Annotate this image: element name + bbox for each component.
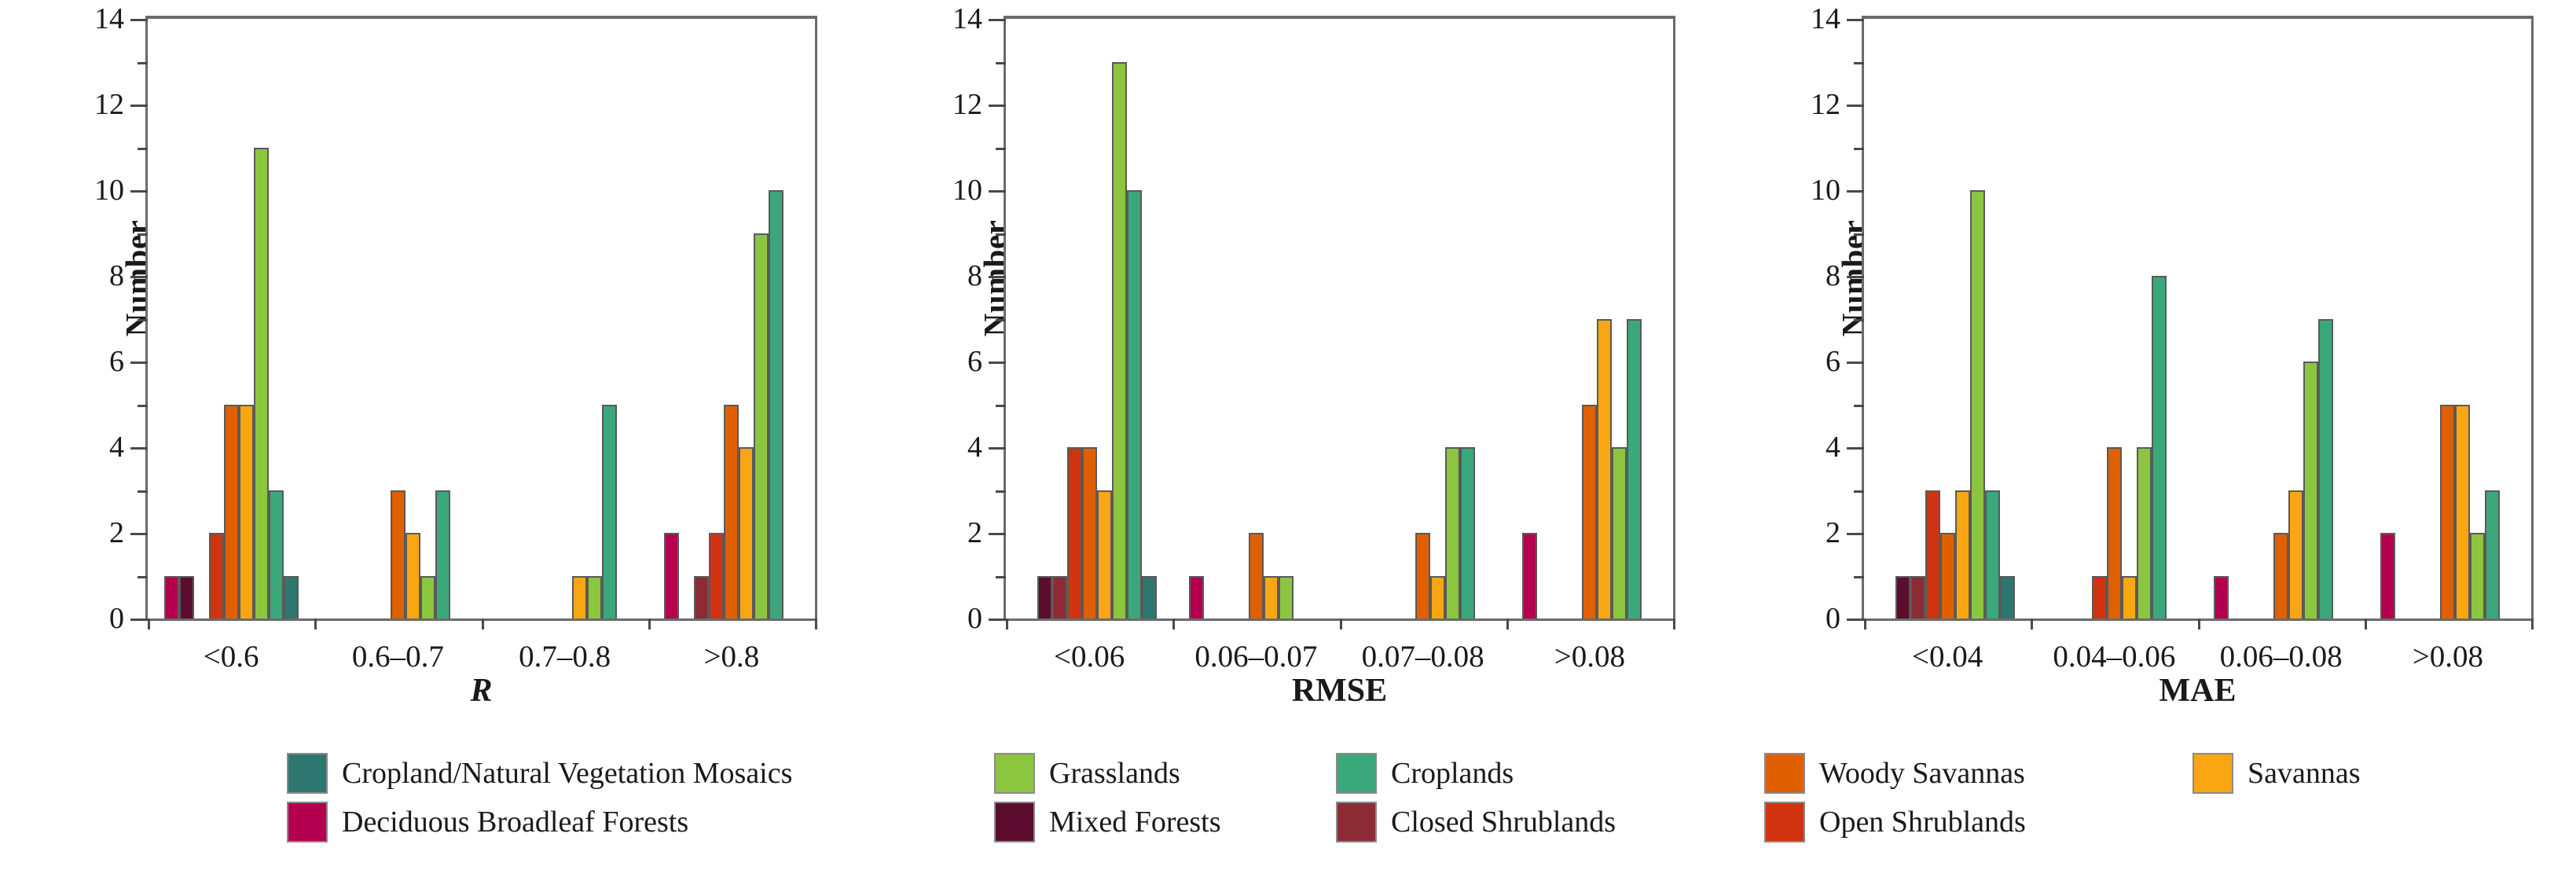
x-tick <box>815 619 817 630</box>
bar <box>435 490 450 619</box>
y-tick-minor <box>138 490 148 493</box>
bar <box>269 490 284 619</box>
y-tick-minor <box>138 576 148 578</box>
y-tick-label: 2 <box>1826 518 1840 548</box>
bar <box>1460 447 1475 619</box>
y-tick-major <box>1847 276 1864 278</box>
bar <box>1445 447 1460 619</box>
y-tick-major <box>130 190 148 193</box>
y-tick-major <box>989 190 1006 193</box>
legend: Cropland/Natural Vegetation MosaicsGrass… <box>0 751 2576 884</box>
figure-root: Number 02468101214<0.60.6–0.70.7–0.8>0.8… <box>0 0 2576 892</box>
y-tick-label: 6 <box>967 347 982 376</box>
x-group-label: <0.06 <box>1054 639 1125 674</box>
bar <box>2107 447 2122 619</box>
y-tick-label: 2 <box>109 518 124 548</box>
bar <box>1612 447 1627 619</box>
x-group-label: <0.6 <box>204 639 259 674</box>
panel-r: Number 02468101214<0.60.6–0.70.7–0.8>0.8… <box>0 0 858 739</box>
x-group-label: 0.04–0.06 <box>2053 639 2175 674</box>
x-tick <box>2198 619 2200 630</box>
x-tick <box>314 619 317 630</box>
x-tick <box>1673 619 1675 630</box>
bar <box>2288 490 2303 619</box>
bar <box>1925 490 1940 619</box>
x-tick <box>148 619 150 630</box>
bar <box>405 533 420 619</box>
x-group-label: 0.06–0.08 <box>2220 639 2343 674</box>
y-tick-major <box>989 19 1006 21</box>
y-tick-label: 12 <box>94 90 124 119</box>
y-tick-major <box>130 276 148 278</box>
bar <box>254 148 269 619</box>
bar <box>694 576 709 619</box>
legend-item[interactable]: Open Shrublands <box>1764 799 2026 845</box>
bar <box>1112 62 1127 619</box>
legend-item[interactable]: Deciduous Broadleaf Forests <box>287 799 688 845</box>
y-tick-minor <box>1854 233 1864 236</box>
y-tick-minor <box>1854 148 1864 150</box>
bar <box>2273 533 2288 619</box>
bar <box>284 576 299 619</box>
bar <box>1037 576 1052 619</box>
y-tick-major <box>989 362 1006 364</box>
bar <box>2440 405 2455 619</box>
legend-label: Deciduous Broadleaf Forests <box>342 807 688 837</box>
legend-label: Mixed Forests <box>1049 807 1221 837</box>
bar <box>724 405 739 619</box>
bar <box>1522 533 1537 619</box>
y-tick-minor <box>996 233 1006 236</box>
y-tick-label: 4 <box>109 432 124 462</box>
y-tick-label: 12 <box>952 90 982 119</box>
bar <box>224 405 239 619</box>
bar <box>1895 576 1910 619</box>
legend-swatch-icon <box>994 802 1035 842</box>
bar <box>1415 533 1430 619</box>
x-tick <box>1506 619 1509 630</box>
panel-rmse: Number 02468101214<0.060.06–0.070.07–0.0… <box>858 0 1716 739</box>
legend-label: Cropland/Natural Vegetation Mosaics <box>342 758 792 788</box>
x-tick <box>1340 619 1342 630</box>
plot-inner-rmse: 02468101214<0.060.06–0.070.07–0.08>0.08 <box>1006 19 1673 619</box>
y-tick-label: 0 <box>967 604 982 633</box>
bar <box>602 405 617 619</box>
panel-row: Number 02468101214<0.60.6–0.70.7–0.8>0.8… <box>0 0 2576 739</box>
y-tick-label: 14 <box>94 4 124 34</box>
bar <box>2000 576 2015 619</box>
x-axis-title-rmse: RMSE <box>1004 672 1675 710</box>
legend-item[interactable]: Mixed Forests <box>994 799 1221 845</box>
bar <box>2470 533 2485 619</box>
legend-swatch-icon <box>1336 802 1377 842</box>
y-tick-minor <box>996 576 1006 578</box>
x-group-label: >0.8 <box>704 639 760 674</box>
x-tick <box>648 619 651 630</box>
bar <box>709 533 724 619</box>
legend-swatch-icon <box>287 802 328 842</box>
legend-row-1: Cropland/Natural Vegetation MosaicsGrass… <box>0 751 2576 796</box>
y-tick-label: 8 <box>109 261 124 291</box>
y-tick-major <box>1847 190 1864 193</box>
x-axis-title-mae: MAE <box>1862 672 2534 710</box>
y-tick-major <box>130 447 148 450</box>
y-tick-major <box>130 362 148 364</box>
y-tick-minor <box>996 319 1006 321</box>
bar <box>1189 576 1204 619</box>
x-group-label: 0.6–0.7 <box>352 639 444 674</box>
bar <box>1985 490 2000 619</box>
y-tick-label: 8 <box>1826 261 1840 291</box>
y-tick-major <box>130 533 148 535</box>
bar <box>2380 533 2395 619</box>
legend-item[interactable]: Croplands <box>1336 751 1514 796</box>
bar <box>1597 319 1612 619</box>
y-tick-label: 0 <box>1826 604 1840 633</box>
y-tick-label: 6 <box>1826 347 1840 376</box>
bar <box>1264 576 1279 619</box>
y-tick-major <box>1847 619 1864 621</box>
y-tick-major <box>130 105 148 107</box>
bar <box>1940 533 1955 619</box>
legend-label: Grasslands <box>1049 758 1180 788</box>
y-tick-minor <box>996 490 1006 493</box>
y-tick-major <box>989 447 1006 450</box>
y-tick-major <box>130 619 148 621</box>
bar <box>239 405 254 619</box>
x-tick <box>2531 619 2534 630</box>
bar <box>1067 447 1082 619</box>
legend-swatch-icon <box>287 753 328 794</box>
y-tick-major <box>989 105 1006 107</box>
y-tick-label: 4 <box>967 432 982 462</box>
bar <box>1082 447 1097 619</box>
x-tick <box>1006 619 1008 630</box>
y-tick-major <box>989 276 1006 278</box>
x-tick <box>2365 619 2367 630</box>
bar <box>2214 576 2229 619</box>
legend-label: Croplands <box>1391 758 1514 788</box>
y-tick-minor <box>138 405 148 407</box>
bar <box>1582 405 1597 619</box>
bar <box>2122 576 2137 619</box>
y-tick-label: 10 <box>1811 175 1840 205</box>
bar <box>1910 576 1925 619</box>
bar <box>1249 533 1264 619</box>
bar <box>754 233 769 619</box>
y-tick-minor <box>138 148 148 150</box>
bar <box>2092 576 2107 619</box>
y-tick-minor <box>1854 319 1864 321</box>
y-tick-label: 8 <box>967 261 982 291</box>
legend-label: Savannas <box>2248 758 2361 788</box>
plot-inner-mae: 02468101214<0.040.04–0.060.06–0.08>0.08 <box>1864 19 2531 619</box>
legend-swatch-icon <box>2193 753 2233 794</box>
y-tick-minor <box>138 62 148 64</box>
x-tick <box>1172 619 1175 630</box>
y-tick-minor <box>996 405 1006 407</box>
x-group-label: 0.7–0.8 <box>519 639 611 674</box>
bar <box>2318 319 2333 619</box>
bar <box>572 576 587 619</box>
bar <box>1097 490 1112 619</box>
y-tick-minor <box>138 319 148 321</box>
plot-area-mae: 02468101214<0.040.04–0.060.06–0.08>0.08 <box>1862 16 2534 621</box>
y-tick-label: 6 <box>109 347 124 376</box>
bar <box>2485 490 2500 619</box>
bar <box>420 576 435 619</box>
legend-label: Closed Shrublands <box>1391 807 1616 837</box>
bar <box>664 533 679 619</box>
x-group-label: <0.04 <box>1912 639 1983 674</box>
legend-row-2: Deciduous Broadleaf ForestsMixed Forests… <box>0 799 2576 845</box>
y-tick-label: 10 <box>94 175 124 205</box>
legend-item[interactable]: Woody Savannas <box>1764 751 2025 796</box>
y-tick-minor <box>1854 576 1864 578</box>
legend-item[interactable]: Closed Shrublands <box>1336 799 1616 845</box>
bar <box>2455 405 2470 619</box>
y-tick-major <box>1847 447 1864 450</box>
bar <box>391 490 405 619</box>
y-tick-minor <box>1854 405 1864 407</box>
y-tick-label: 12 <box>1811 90 1840 119</box>
bar <box>1279 576 1294 619</box>
bar <box>1430 576 1445 619</box>
y-tick-major <box>1847 362 1864 364</box>
x-axis-title-r: R <box>145 672 817 710</box>
x-group-label: 0.06–0.07 <box>1194 639 1317 674</box>
y-tick-major <box>130 19 148 21</box>
y-tick-label: 14 <box>1811 4 1840 34</box>
legend-item[interactable]: Savannas <box>2193 751 2361 796</box>
bar <box>1127 190 1142 619</box>
bar <box>1142 576 1157 619</box>
x-group-label: 0.07–0.08 <box>1362 639 1484 674</box>
bar <box>1955 490 1970 619</box>
legend-item[interactable]: Cropland/Natural Vegetation Mosaics <box>287 751 792 796</box>
y-tick-minor <box>996 62 1006 64</box>
x-group-label: >0.08 <box>1554 639 1625 674</box>
bar <box>739 447 754 619</box>
legend-swatch-icon <box>994 753 1035 794</box>
y-tick-major <box>1847 105 1864 107</box>
bar <box>179 576 194 619</box>
bar <box>587 576 602 619</box>
y-tick-label: 4 <box>1826 432 1840 462</box>
bar <box>164 576 179 619</box>
x-group-label: >0.08 <box>2413 639 2483 674</box>
y-tick-minor <box>138 233 148 236</box>
x-tick <box>482 619 484 630</box>
y-tick-minor <box>1854 62 1864 64</box>
x-tick <box>2031 619 2033 630</box>
y-tick-minor <box>996 148 1006 150</box>
bar <box>2152 276 2167 619</box>
legend-label: Woody Savannas <box>1819 758 2025 788</box>
bar <box>769 190 783 619</box>
bar <box>2303 362 2318 619</box>
y-tick-label: 10 <box>952 175 982 205</box>
y-tick-label: 14 <box>952 4 982 34</box>
legend-swatch-icon <box>1764 753 1805 794</box>
bar <box>2137 447 2152 619</box>
y-tick-label: 0 <box>109 604 124 633</box>
y-tick-major <box>1847 19 1864 21</box>
panel-mae: Number 02468101214<0.040.04–0.060.06–0.0… <box>1716 0 2574 739</box>
y-tick-major <box>1847 533 1864 535</box>
legend-item[interactable]: Grasslands <box>994 751 1180 796</box>
bar <box>1970 190 1985 619</box>
y-tick-major <box>989 619 1006 621</box>
bar <box>1627 319 1642 619</box>
plot-area-r: 02468101214<0.60.6–0.70.7–0.8>0.8 <box>145 16 817 621</box>
bar <box>1052 576 1067 619</box>
legend-label: Open Shrublands <box>1819 807 2026 837</box>
y-tick-label: 2 <box>967 518 982 548</box>
y-tick-minor <box>1854 490 1864 493</box>
legend-swatch-icon <box>1336 753 1377 794</box>
bar <box>209 533 224 619</box>
y-tick-major <box>989 533 1006 535</box>
plot-area-rmse: 02468101214<0.060.06–0.070.07–0.08>0.08 <box>1004 16 1675 621</box>
x-tick <box>1864 619 1866 630</box>
legend-swatch-icon <box>1764 802 1805 842</box>
plot-inner-r: 02468101214<0.60.6–0.70.7–0.8>0.8 <box>148 19 815 619</box>
